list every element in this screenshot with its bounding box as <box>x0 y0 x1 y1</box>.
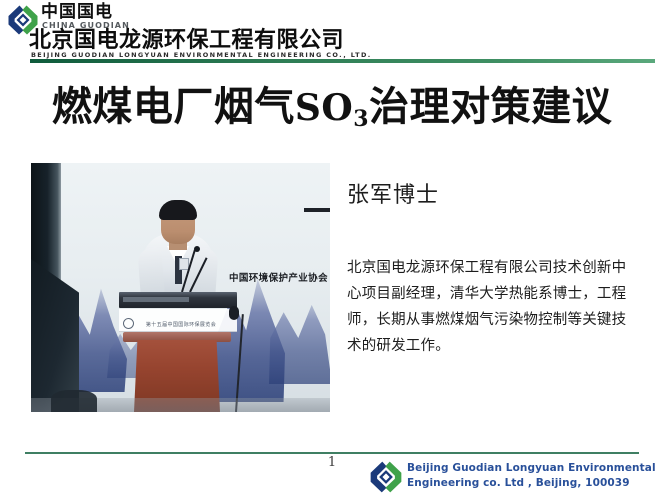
company-name-cn: 北京国电龙源环保工程有限公司 <box>29 29 344 53</box>
company-name-en: BEIJING GUODIAN LONGYUAN ENVIRONMENTAL E… <box>31 51 372 59</box>
photo-content: 中国环境保护产业协会 第十五届中国国际环保展览会 <box>31 163 330 412</box>
photo-dark-marker <box>304 208 330 212</box>
photo-podium-emblem-text: 第十五届中国国际环保展览会 <box>129 321 233 328</box>
guodian-interlocking-square-logo <box>368 460 404 494</box>
title-part-1: 燃煤电厂烟气 <box>52 84 295 130</box>
title-part-2: 治理对策建议 <box>369 84 612 130</box>
speaker-photo: 中国环境保护产业协会 第十五届中国国际环保展览会 <box>31 163 330 412</box>
photo-foreground-object <box>51 390 97 412</box>
speaker-biography: 北京国电龙源环保工程有限公司技术创新中心项目副经理，清华大学热能系博士，工程师，… <box>347 255 639 359</box>
header-divider <box>30 59 655 63</box>
chemical-subscript: 3 <box>353 106 369 132</box>
footer-line-1: Beijing Guodian Longyuan Environmental <box>407 461 656 476</box>
footer-line-2: Engineering co. Ltd , Beijing, 100039 <box>407 476 656 491</box>
footer-company-address: Beijing Guodian Longyuan Environmental E… <box>407 461 656 491</box>
speaker-name: 张军博士 <box>347 182 439 210</box>
photo-microphone-head <box>194 246 200 252</box>
footer-divider <box>25 452 639 454</box>
page-title: 燃煤电厂烟气SO3治理对策建议 <box>0 82 664 138</box>
photo-speaker-shoulder-left <box>137 247 164 295</box>
chemical-symbol: SO <box>295 87 353 129</box>
photo-podium-nameplate <box>123 297 189 302</box>
photo-speaker-hair <box>159 200 197 220</box>
photo-backdrop-caption: 中国环境保护产业协会 <box>229 270 328 284</box>
photo-speaker-shoulder-right <box>191 247 218 295</box>
parent-company-name-cn: 中国国电 <box>41 3 113 21</box>
slide-header: 中国国电 CHINA GUODIAN 北京国电龙源环保工程有限公司 BEIJIN… <box>0 0 664 66</box>
chemical-formula-so3: SO3 <box>295 87 369 129</box>
photo-microphone-stand-head <box>229 306 239 320</box>
